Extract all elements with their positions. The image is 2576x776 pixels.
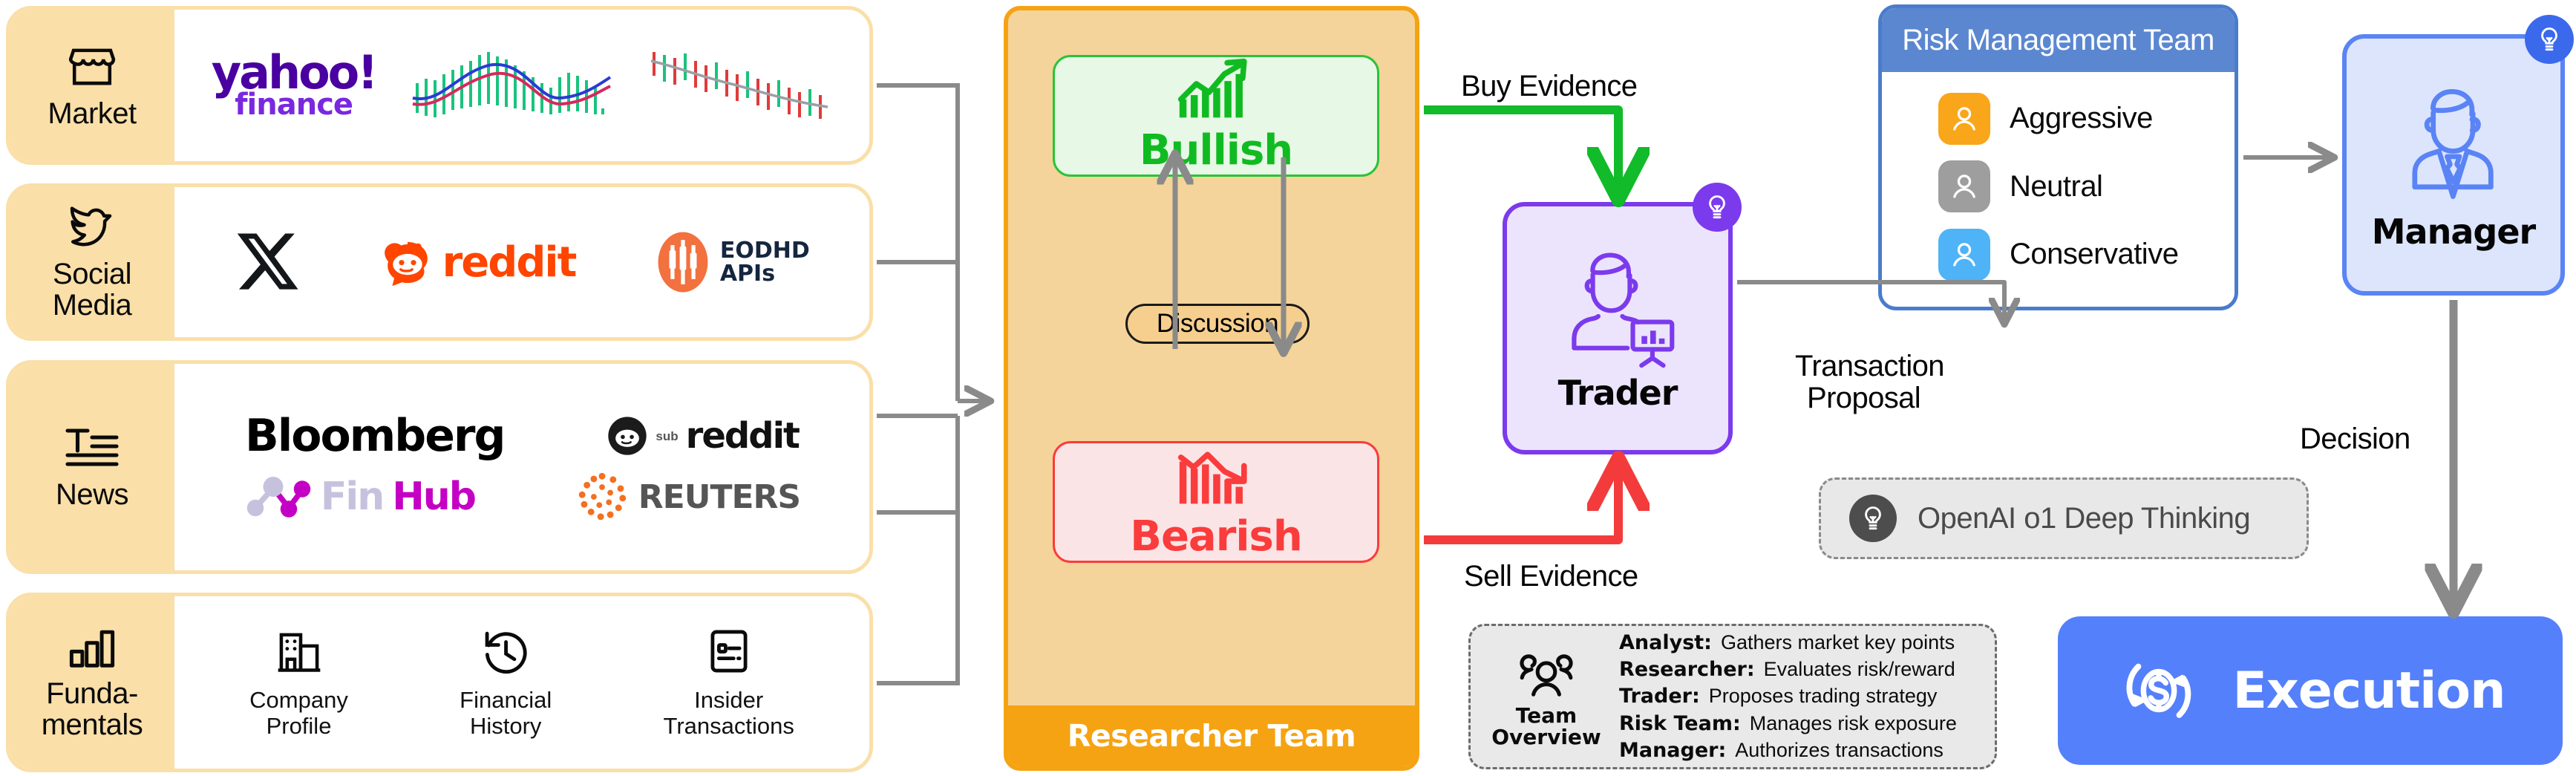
sell-evidence-arrow <box>1424 466 1618 540</box>
finhub-wordmark-fin: Fin <box>321 475 383 519</box>
label-line1: Financial <box>460 687 552 713</box>
finhub-mark-icon <box>243 472 312 521</box>
label-line2: Profile <box>267 713 332 739</box>
subreddit-tag: sub <box>656 430 678 443</box>
news-logo-row-1: Bloomberg sub reddit <box>194 410 850 462</box>
transaction-proposal-line1: Transaction <box>1795 350 1944 382</box>
risk-team-header: Risk Management Team <box>1882 8 2235 72</box>
label-line1: Company <box>249 687 348 713</box>
person-avatar-icon <box>1938 229 1990 281</box>
category-label-line2: mentals <box>42 708 143 741</box>
trader-card[interactable]: Trader <box>1503 202 1733 454</box>
risk-management-team-panel[interactable]: Risk Management Team Aggressive Neutral <box>1878 4 2238 310</box>
twitter-bird-icon <box>63 203 121 252</box>
eodhd-apis-logo: EODHD APIs <box>656 229 810 295</box>
eodhd-mark-icon <box>656 229 710 295</box>
trend-up-bars-icon <box>1172 57 1260 122</box>
finhub-wordmark-hub: Hub <box>392 475 475 519</box>
trader-person-chart-icon <box>1552 244 1684 370</box>
manager-suit-person-icon <box>2383 78 2524 210</box>
trader-label: Trader <box>1558 373 1678 413</box>
lightbulb-icon <box>2525 15 2574 64</box>
bearish-card[interactable]: Bearish <box>1053 441 1379 563</box>
eodhd-line2: APIs <box>720 262 810 286</box>
diagram-canvas: Market yahoo! finance <box>0 0 2576 776</box>
label-line2: History <box>470 713 541 739</box>
label-line1: Insider <box>694 687 763 713</box>
overview-desc: Proposes trading strategy <box>1709 683 1938 709</box>
candlestick-chart-green-icon <box>411 45 612 126</box>
bloomberg-logo: Bloomberg <box>245 410 504 462</box>
execution-label: Execution <box>2232 662 2505 720</box>
subreddit-wordmark: reddit <box>686 415 799 457</box>
category-social-media: Social Media <box>10 187 174 337</box>
dollar-refresh-icon <box>2115 647 2203 734</box>
bearish-label: Bearish <box>1130 512 1301 561</box>
overview-role: Analyst: <box>1619 630 1712 656</box>
reddit-logo: reddit <box>380 235 576 290</box>
researcher-team-label: Researcher Team <box>1068 718 1356 754</box>
category-fundamentals: Funda- mentals <box>10 596 174 769</box>
subreddit-logo: sub reddit <box>607 415 799 457</box>
team-overview-row: Risk Team: Manages risk exposure <box>1619 711 1981 737</box>
people-group-icon <box>1516 645 1577 700</box>
fundamentals-item-label: Financial History <box>460 687 552 740</box>
trend-down-bars-icon <box>1172 443 1260 508</box>
flow-label-sell-evidence: Sell Evidence <box>1464 561 1638 593</box>
data-source-row-news[interactable]: News Bloomberg sub red <box>6 360 873 574</box>
bullish-card[interactable]: Bullish <box>1053 55 1379 177</box>
team-overview-row: Analyst: Gathers market key points <box>1619 630 1981 656</box>
flow-label-transaction-proposal: Transaction Proposal <box>1795 350 1944 414</box>
fundamentals-item-strip: Company Profile Financial History <box>174 596 869 769</box>
x-twitter-logo <box>234 229 299 295</box>
risk-member-conservative[interactable]: Conservative <box>1938 229 2235 281</box>
category-market: Market <box>10 10 174 161</box>
category-label-line1: Funda- <box>46 677 138 710</box>
market-logo-strip: yahoo! finance <box>174 10 869 161</box>
history-clock-icon <box>480 626 532 676</box>
category-news: News <box>10 364 174 570</box>
fundamentals-item-label: Company Profile <box>249 687 348 740</box>
finhub-logo: Fin Hub <box>243 472 475 521</box>
overview-desc: Authorizes transactions <box>1735 737 1944 763</box>
reuters-mark-icon <box>575 469 630 524</box>
flow-label-buy-evidence: Buy Evidence <box>1461 71 1637 102</box>
category-label: Social Media <box>53 258 131 321</box>
article-text-icon <box>63 424 121 473</box>
yahoo-wordmark: yahoo! <box>212 54 376 91</box>
discussion-label: Discussion <box>1157 309 1278 339</box>
category-label-line2: Media <box>53 289 131 322</box>
label-line2: Transactions <box>664 713 794 739</box>
manager-card[interactable]: Manager <box>2342 34 2565 296</box>
overview-desc: Evaluates risk/reward <box>1764 656 1955 682</box>
discussion-pill[interactable]: Discussion <box>1125 304 1310 344</box>
overview-role: Trader: <box>1619 683 1700 709</box>
flow-label-decision: Decision <box>2300 423 2410 455</box>
execution-card[interactable]: Execution <box>2058 616 2563 765</box>
subreddit-tag-line1: sub <box>656 430 678 443</box>
category-label: Market <box>48 98 136 129</box>
data-source-connector-tree <box>877 85 987 683</box>
subreddit-mark-icon <box>607 415 648 457</box>
candlestick-chart-red-icon <box>647 45 832 126</box>
team-overview-legend: Team Overview Analyst: Gathers market ke… <box>1468 624 1997 769</box>
manager-label: Manager <box>2372 212 2535 252</box>
overview-desc: Manages risk exposure <box>1750 711 1957 737</box>
document-lines-icon <box>703 626 755 676</box>
overview-desc: Gathers market key points <box>1721 630 1955 656</box>
buy-evidence-arrow <box>1424 110 1618 192</box>
news-logo-row-2: Fin Hub <box>194 469 850 524</box>
finance-wordmark: finance <box>235 93 353 117</box>
risk-member-neutral[interactable]: Neutral <box>1938 160 2235 212</box>
overview-role: Manager: <box>1619 737 1726 763</box>
reuters-wordmark: REUTERS <box>638 478 800 516</box>
overview-role: Researcher: <box>1619 656 1755 682</box>
reuters-logo: REUTERS <box>575 469 800 524</box>
fundamentals-item-company-profile[interactable]: Company Profile <box>249 626 348 740</box>
risk-member-label: Conservative <box>2010 238 2178 271</box>
eodhd-wordmark: EODHD APIs <box>720 239 810 286</box>
fundamentals-item-label: Insider Transactions <box>664 687 794 740</box>
team-overview-title-line1: Team <box>1516 703 1577 728</box>
data-source-row-fundamentals[interactable]: Funda- mentals Company Profile <box>6 593 873 772</box>
social-logo-strip: reddit EODHD APIs <box>174 187 869 337</box>
lightbulb-icon <box>1693 183 1742 232</box>
category-label-line1: Social <box>53 258 131 290</box>
eodhd-line1: EODHD <box>720 239 810 263</box>
team-overview-row: Researcher: Evaluates risk/reward <box>1619 656 1981 682</box>
transaction-proposal-line2: Proposal <box>1807 382 1920 414</box>
openai-deep-thinking-note: OpenAI o1 Deep Thinking <box>1819 477 2309 559</box>
team-overview-rows: Analyst: Gathers market key points Resea… <box>1619 630 1981 763</box>
team-overview-title: Team Overview <box>1491 705 1601 749</box>
researcher-team-panel[interactable]: Bullish Discussion <box>1004 6 1419 771</box>
risk-member-aggressive[interactable]: Aggressive <box>1938 93 2235 145</box>
risk-member-label: Aggressive <box>2010 102 2153 135</box>
team-overview-row: Trader: Proposes trading strategy <box>1619 683 1981 709</box>
person-avatar-icon <box>1938 160 1990 212</box>
risk-team-member-list: Aggressive Neutral Conservative <box>1882 72 2235 307</box>
lightbulb-icon <box>1849 495 1897 542</box>
openai-note-label: OpenAI o1 Deep Thinking <box>1918 502 2250 535</box>
team-overview-title-line2: Overview <box>1491 725 1601 749</box>
reddit-mark-icon <box>380 235 435 290</box>
data-source-row-social-media[interactable]: Social Media reddit <box>6 183 873 341</box>
overview-role: Risk Team: <box>1619 711 1741 737</box>
bar-chart-icon <box>65 625 120 672</box>
fundamentals-item-insider-transactions[interactable]: Insider Transactions <box>664 626 794 740</box>
risk-member-label: Neutral <box>2010 170 2102 203</box>
office-building-icon <box>273 626 325 676</box>
storefront-icon <box>65 42 120 92</box>
researcher-team-footer: Researcher Team <box>1008 705 1415 766</box>
team-overview-heading: Team Overview <box>1490 645 1603 749</box>
reddit-wordmark: reddit <box>442 238 576 287</box>
risk-team-title: Risk Management Team <box>1902 24 2214 57</box>
yahoo-finance-logo: yahoo! finance <box>212 54 376 117</box>
category-label: News <box>56 479 128 510</box>
data-source-row-market[interactable]: Market yahoo! finance <box>6 6 873 165</box>
bullish-label: Bullish <box>1140 126 1292 175</box>
category-label: Funda- mentals <box>42 678 143 740</box>
team-overview-row: Manager: Authorizes transactions <box>1619 737 1981 763</box>
researcher-team-body: Bullish Discussion <box>1008 10 1415 705</box>
person-avatar-icon <box>1938 93 1990 145</box>
news-logo-strip: Bloomberg sub reddit <box>174 364 869 570</box>
fundamentals-item-financial-history[interactable]: Financial History <box>460 626 552 740</box>
